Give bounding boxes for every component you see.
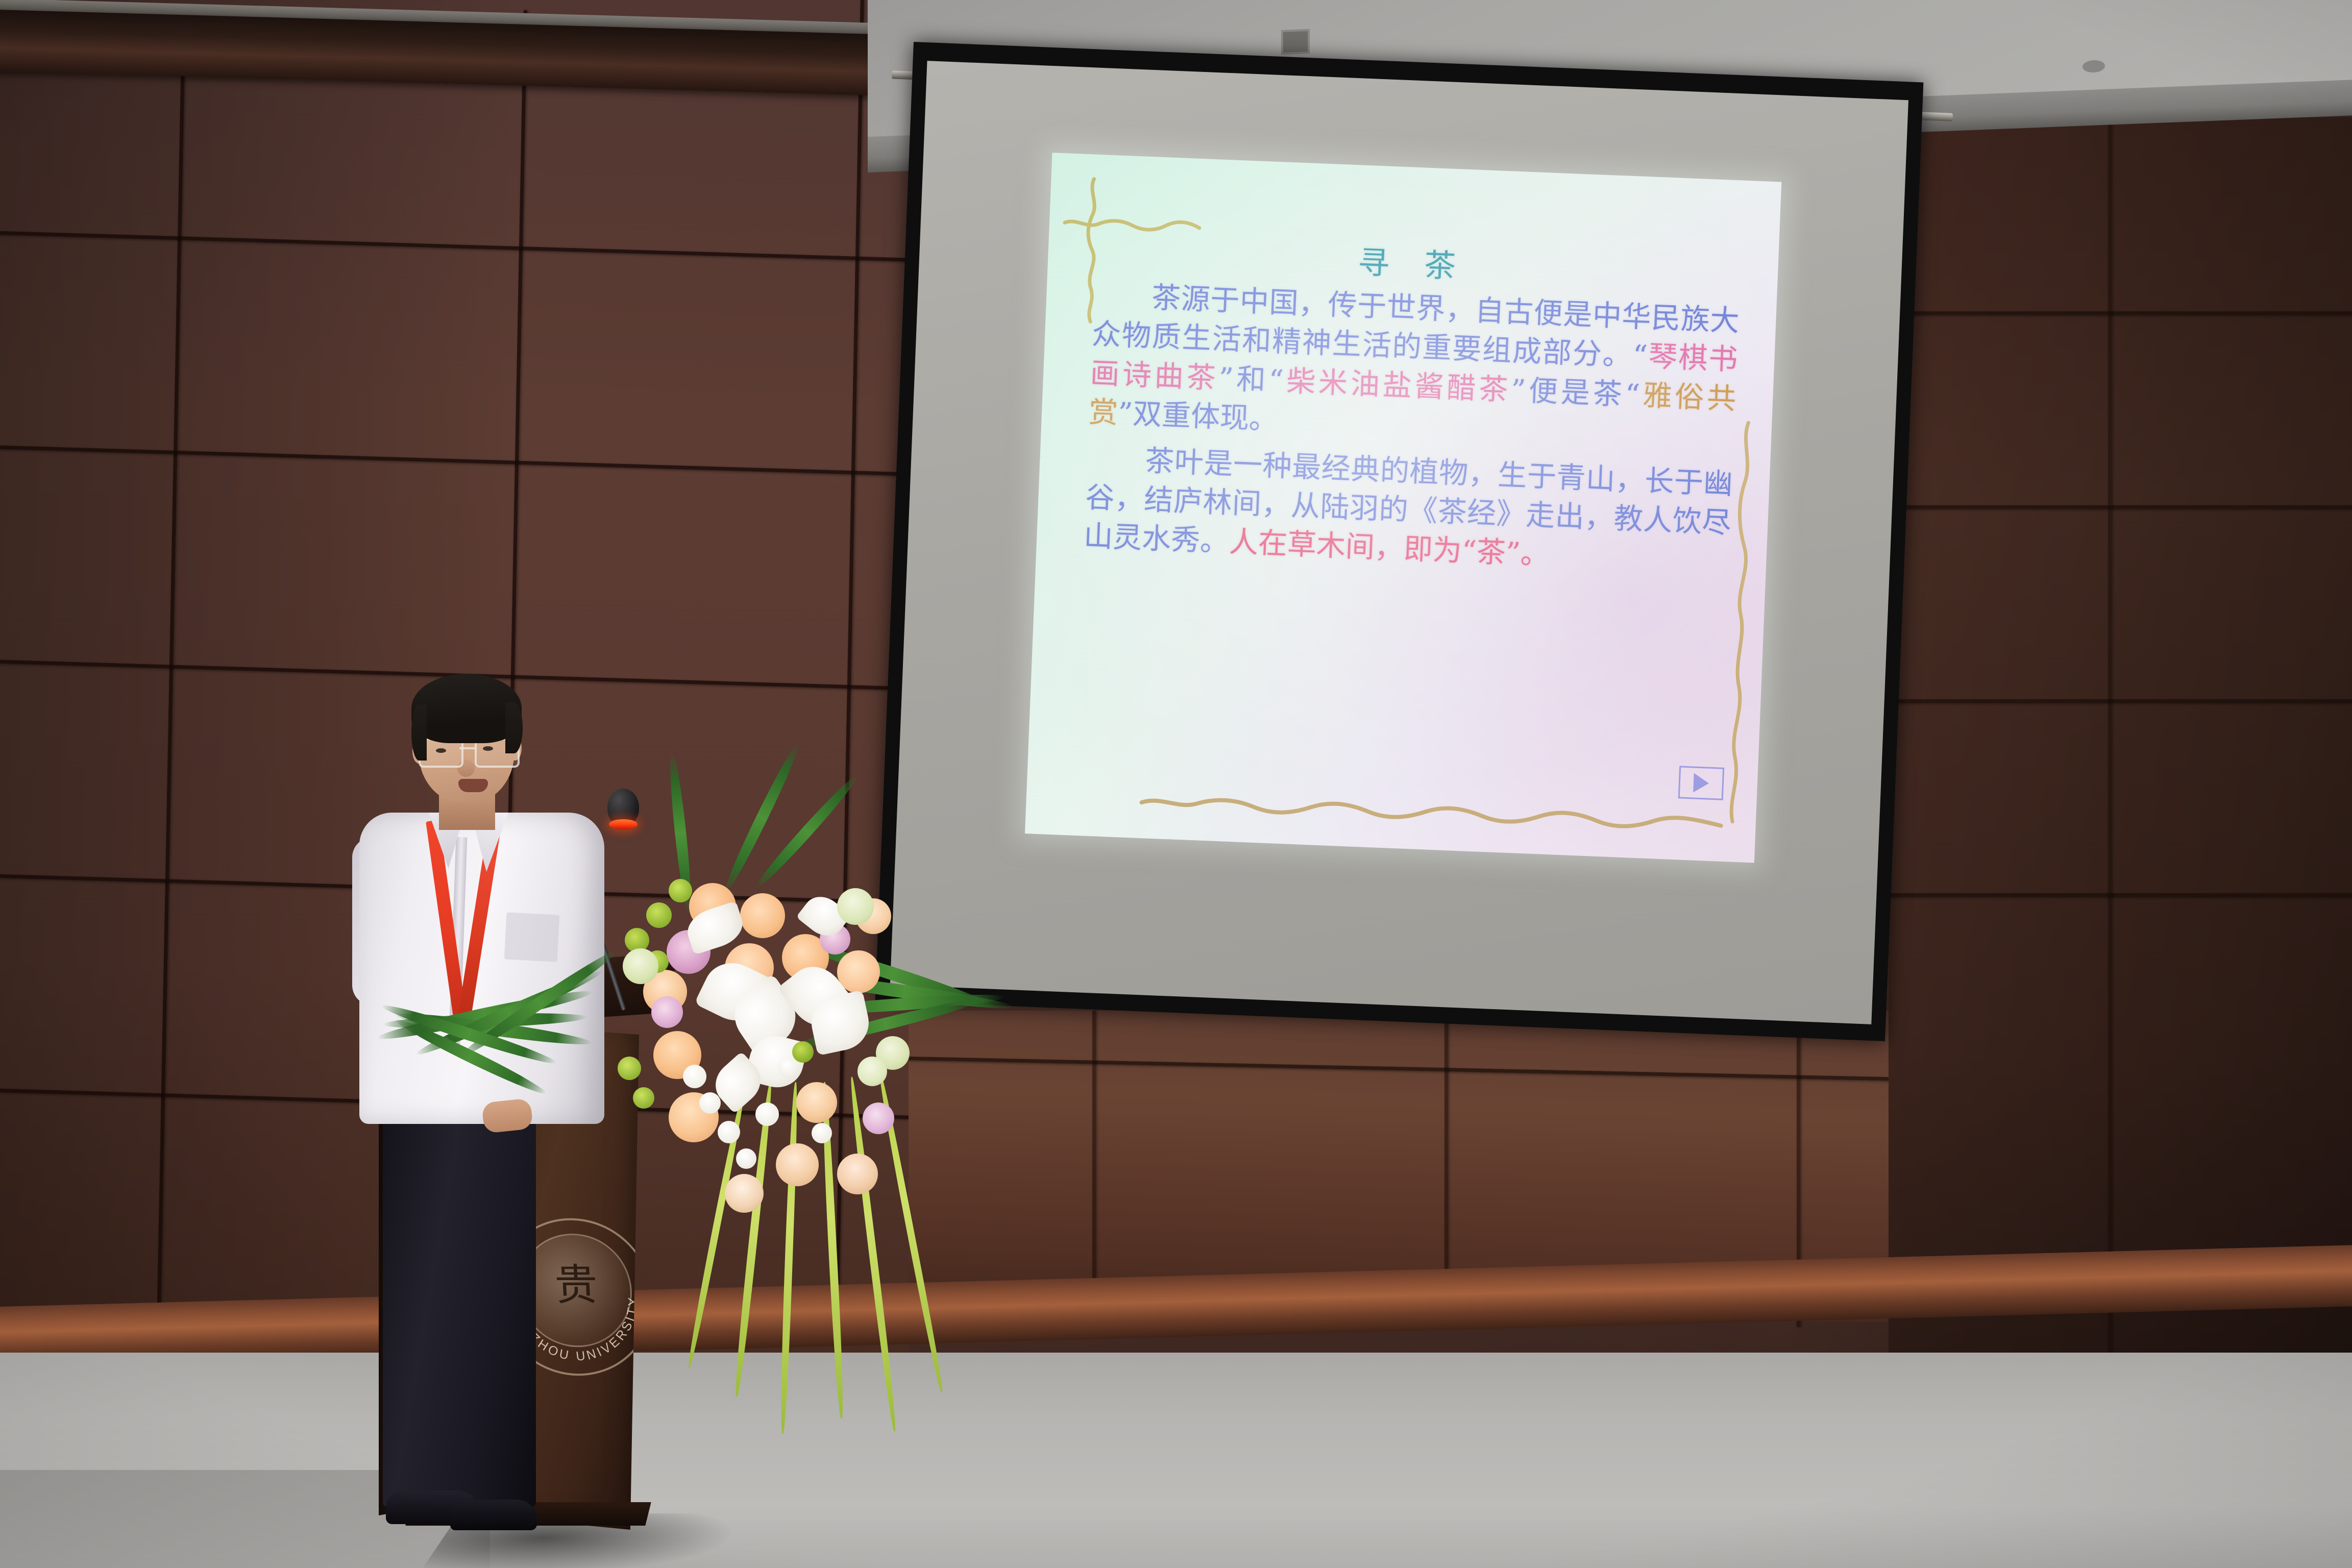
play-triangle-icon — [1693, 773, 1709, 793]
conference-hall-photo: 寻 茶 茶源于中国，传于世界，自古便是中华民族大众物质生活和精神生活的重要组成部… — [0, 0, 2352, 1568]
speaker-shirt-pocket — [504, 912, 560, 962]
speaker-trousers — [383, 1109, 536, 1507]
glasses-bridge — [459, 747, 476, 749]
speaker-hair-side-right — [505, 702, 523, 753]
slide-run: 茶源于中国，传于世界，自古便是中华民族大众物质生活和精神生活的重要组成部分。“ — [1091, 281, 1740, 373]
slide-run: ”便是茶“ — [1510, 373, 1640, 412]
slide-paragraph-1: 茶源于中国，传于世界，自古便是中华民族大众物质生活和精神生活的重要组成部分。“琴… — [1088, 276, 1740, 458]
slide-run: ”和“ — [1218, 361, 1284, 398]
speaker-shirt — [359, 813, 604, 1124]
next-slide-button[interactable] — [1678, 766, 1724, 800]
slide-run: ”双重体现。 — [1117, 397, 1279, 437]
slide-run-highlight: 人在草木间，即为“茶”。 — [1229, 525, 1550, 572]
ceiling-vent-icon — [1281, 29, 1310, 55]
projection-screen: 寻 茶 茶源于中国，传于世界，自古便是中华民族大众物质生活和精神生活的重要组成部… — [874, 42, 1939, 1057]
projected-slide: 寻 茶 茶源于中国，传于世界，自古便是中华民族大众物质生活和精神生活的重要组成部… — [1025, 153, 1781, 863]
decorative-wave-bottom — [1138, 791, 1726, 833]
slide-body: 茶源于中国，传于世界，自古便是中华民族大众物质生活和精神生活的重要组成部分。“琴… — [1083, 276, 1740, 589]
speaker-hair-side-left — [411, 704, 427, 761]
right-wall-panel — [1889, 117, 2352, 1368]
speaker-shoe-right — [450, 1500, 537, 1530]
slide-paragraph-2: 茶叶是一种最经典的植物，生于青山，长于幽谷，结庐林间，从陆羽的《茶经》走出，教人… — [1083, 439, 1733, 582]
green-button-flower — [646, 902, 672, 928]
slide-run-highlight: 柴米油盐酱醋茶 — [1283, 364, 1511, 407]
speaker-mouth — [458, 779, 488, 792]
flower-bouquet — [572, 817, 1021, 1480]
